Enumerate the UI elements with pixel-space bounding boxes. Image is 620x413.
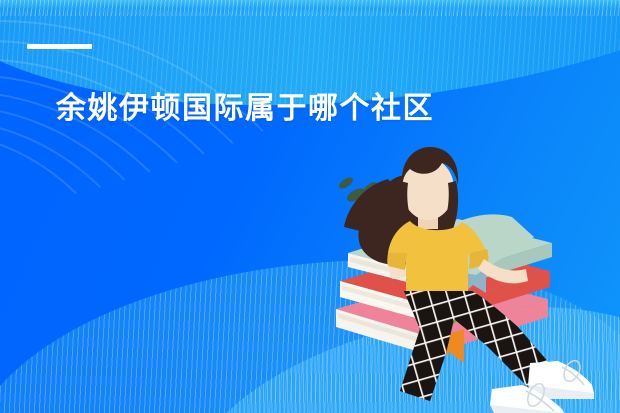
- arc-ring-1: [0, 130, 140, 413]
- arc-ring-3: [0, 104, 200, 413]
- arc-ring-2: [0, 118, 170, 413]
- banner-image: 余姚伊顿国际属于哪个社区: [0, 0, 620, 413]
- headline-block: 余姚伊顿国际属于哪个社区: [0, 0, 470, 130]
- illustration-woman-on-books: [326, 123, 620, 413]
- arc-ring-4: [0, 90, 232, 413]
- accent-rule: [27, 44, 92, 49]
